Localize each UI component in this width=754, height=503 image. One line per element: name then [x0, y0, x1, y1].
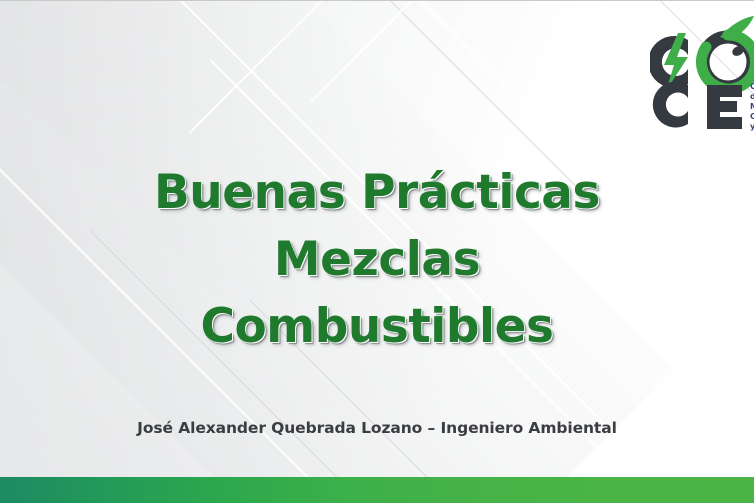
svg-text:Cor: Cor — [750, 82, 754, 91]
title-line-3: Combustibles — [0, 293, 754, 360]
page-title: Buenas Prácticas Mezclas Combustibles — [0, 159, 754, 360]
svg-text:de: de — [750, 92, 754, 101]
svg-text:Cor: Cor — [750, 112, 754, 121]
author-subtitle: José Alexander Quebrada Lozano – Ingenie… — [0, 419, 754, 437]
organization-logo: Cor de Min Cor y E — [650, 7, 754, 132]
title-line-2: Mezclas — [0, 226, 754, 293]
bottom-accent-bar — [0, 477, 754, 503]
logo-wordmark-line2 — [653, 82, 742, 130]
svg-text:y E: y E — [750, 122, 754, 131]
title-slide: Cor de Min Cor y E Buenas Prácticas Mezc… — [0, 0, 754, 503]
title-line-1: Buenas Prácticas — [0, 159, 754, 226]
svg-text:Min: Min — [750, 102, 754, 111]
logo-tagline: Cor de Min Cor y E — [750, 82, 754, 131]
